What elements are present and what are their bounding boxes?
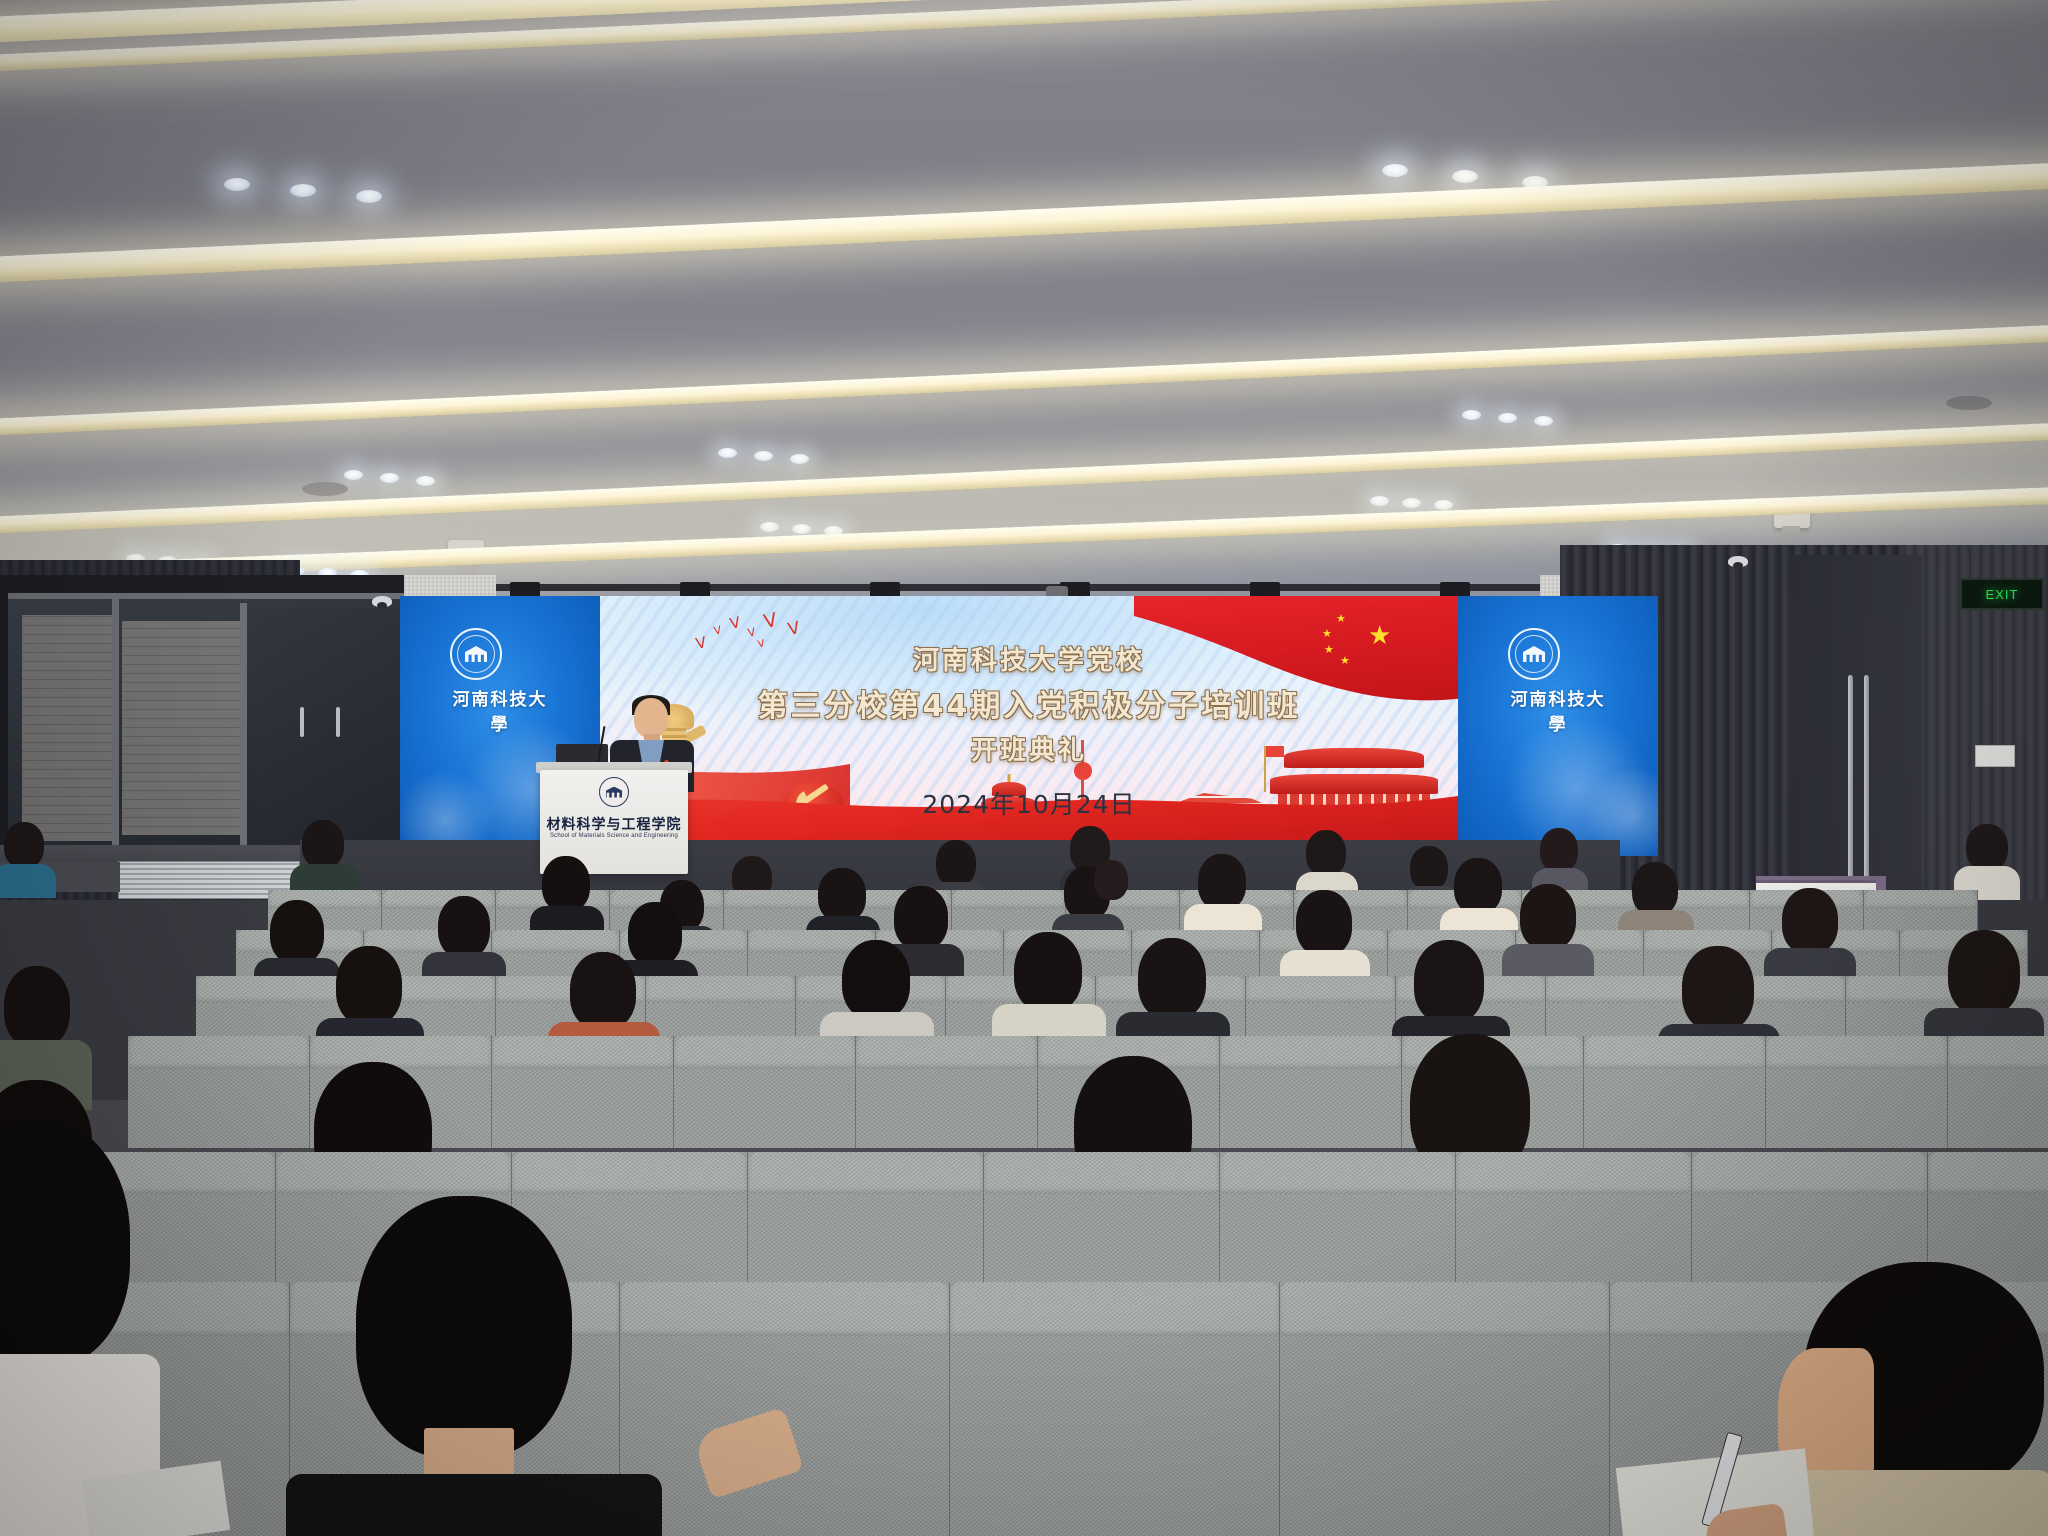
auditorium-seat[interactable]	[950, 1282, 1280, 1536]
auditorium-seat[interactable]	[1948, 1036, 2048, 1148]
ceiling-downlight	[290, 184, 316, 197]
ceiling-downlight	[1402, 498, 1421, 508]
auditorium-seat[interactable]	[1220, 1152, 1456, 1302]
glass-door[interactable]	[252, 609, 410, 847]
ceiling-light-strip-3	[0, 312, 2048, 447]
ceiling-downlight	[760, 522, 779, 532]
university-crest-right: 河南科技大學	[1508, 628, 1608, 735]
ceiling-downlight	[1382, 164, 1408, 177]
auditorium-seat[interactable]	[128, 1036, 310, 1148]
ceiling-downlight	[1452, 170, 1478, 183]
ceiling-downlight	[790, 454, 809, 464]
screen-title-line-1: 河南科技大学党校	[600, 640, 1458, 677]
left-window-wall	[0, 575, 420, 875]
college-name-en: School of Materials Science and Engineer…	[540, 833, 688, 839]
auditorium-seat[interactable]	[620, 1282, 950, 1536]
ceiling	[0, 0, 2048, 600]
screen-title-line-2: 第三分校第44期入党积极分子培训班	[600, 681, 1458, 725]
door-handle[interactable]	[300, 707, 304, 737]
auditorium-seat[interactable]	[1584, 1036, 1766, 1148]
screen-date-line: 2024年10月24日	[600, 785, 1458, 821]
light-switch-panel[interactable]	[1975, 745, 2015, 767]
auditorium-seat[interactable]	[492, 1036, 674, 1148]
ceiling-downlight	[718, 448, 737, 458]
audience-person	[0, 822, 54, 894]
auditorium-seat[interactable]	[856, 1036, 1038, 1148]
audience-person	[1090, 860, 1134, 920]
auditorium-seat[interactable]	[984, 1152, 1220, 1302]
exit-sign: EXIT	[1960, 578, 2044, 610]
door-handle[interactable]	[336, 707, 340, 737]
ceiling-downlight	[1498, 413, 1517, 423]
ceiling-downlight	[1462, 410, 1481, 420]
screen-title-block: 河南科技大学党校 第三分校第44期入党积极分子培训班 开班典礼 2024年10月…	[600, 640, 1458, 821]
audience-person	[296, 820, 354, 896]
auditorium-seat[interactable]	[1766, 1036, 1948, 1148]
cctv-dome-icon	[1728, 556, 1748, 567]
window-mullion	[240, 603, 247, 849]
exterior-brick-wall	[22, 615, 112, 841]
auditorium-seat[interactable]	[674, 1036, 856, 1148]
ceiling-downlight	[356, 190, 382, 203]
college-crest-icon	[599, 777, 629, 807]
ceiling-downlight	[344, 470, 363, 480]
window-mullion	[8, 593, 412, 599]
main-led-screen: ★ ★ ★ ★ ★ ᐯ ᐯ ᐯ ᐯ ᐯ ᐯ ᐯ	[600, 596, 1458, 856]
audience-person-foreground	[332, 1196, 612, 1536]
exit-sign-label: EXIT	[1986, 587, 2019, 602]
audience-person	[1960, 824, 2016, 896]
ceiling-downlight	[792, 524, 811, 534]
side-panel-right: 河南科技大學	[1458, 596, 1658, 856]
foreground-phone-hand	[1700, 1432, 1820, 1536]
auditorium-seat[interactable]	[1280, 1282, 1610, 1536]
ceiling-air-vent	[1946, 396, 1992, 410]
university-crest-left: 河南科技大學	[450, 628, 550, 735]
audience-person	[1300, 830, 1354, 898]
auditorium-photo: EXIT 河南科技大學 ★ ★ ★ ★ ★	[0, 0, 2048, 1536]
college-name-cn: 材料科学与工程学院	[540, 814, 688, 834]
lighting-truss	[400, 584, 1660, 591]
ceiling-downlight	[1434, 500, 1453, 510]
ceiling-downlight	[416, 476, 435, 486]
university-name-right: 河南科技大學	[1508, 685, 1608, 735]
ceiling-downlight	[754, 451, 773, 461]
ceiling-air-vent	[302, 482, 348, 496]
ceiling-downlight	[380, 473, 399, 483]
screen-title-line-3: 开班典礼	[600, 730, 1458, 767]
ceiling-light-strip-2	[0, 150, 2048, 294]
exterior-brick-wall	[122, 621, 242, 835]
ceiling-downlight	[1370, 496, 1389, 506]
ceiling-downlight	[1534, 416, 1553, 426]
cctv-dome-icon	[372, 596, 392, 607]
ceiling-light-strip-4	[0, 410, 2048, 545]
auditorium-seat[interactable]	[1220, 1036, 1402, 1148]
window-mullion	[112, 599, 119, 849]
ceiling-downlight	[224, 178, 250, 191]
auditorium-seat[interactable]	[748, 1152, 984, 1302]
university-name-left: 河南科技大學	[450, 685, 550, 735]
auditorium-seat[interactable]	[1456, 1152, 1692, 1302]
